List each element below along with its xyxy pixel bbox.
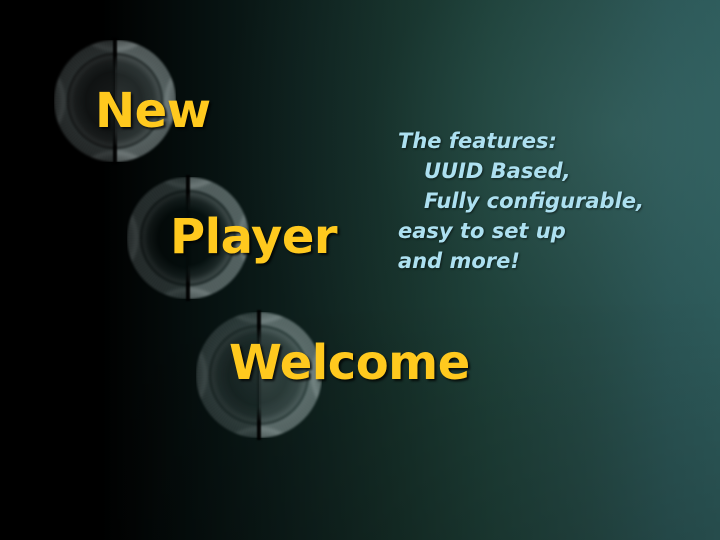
slide-canvas: New Player Welcome The features: UUID Ba… [0, 0, 720, 540]
title-word-welcome: Welcome [229, 339, 470, 387]
feature-line-item: easy to set up [398, 216, 644, 246]
feature-list: The features: UUID Based, Fully configur… [398, 126, 644, 276]
feature-line-item: Fully configurable, [398, 186, 644, 216]
feature-line-item: and more! [398, 246, 644, 276]
title-word-player: Player [170, 213, 337, 261]
feature-line-item: UUID Based, [398, 156, 644, 186]
title-word-new: New [95, 87, 211, 135]
feature-line-heading: The features: [398, 126, 644, 156]
